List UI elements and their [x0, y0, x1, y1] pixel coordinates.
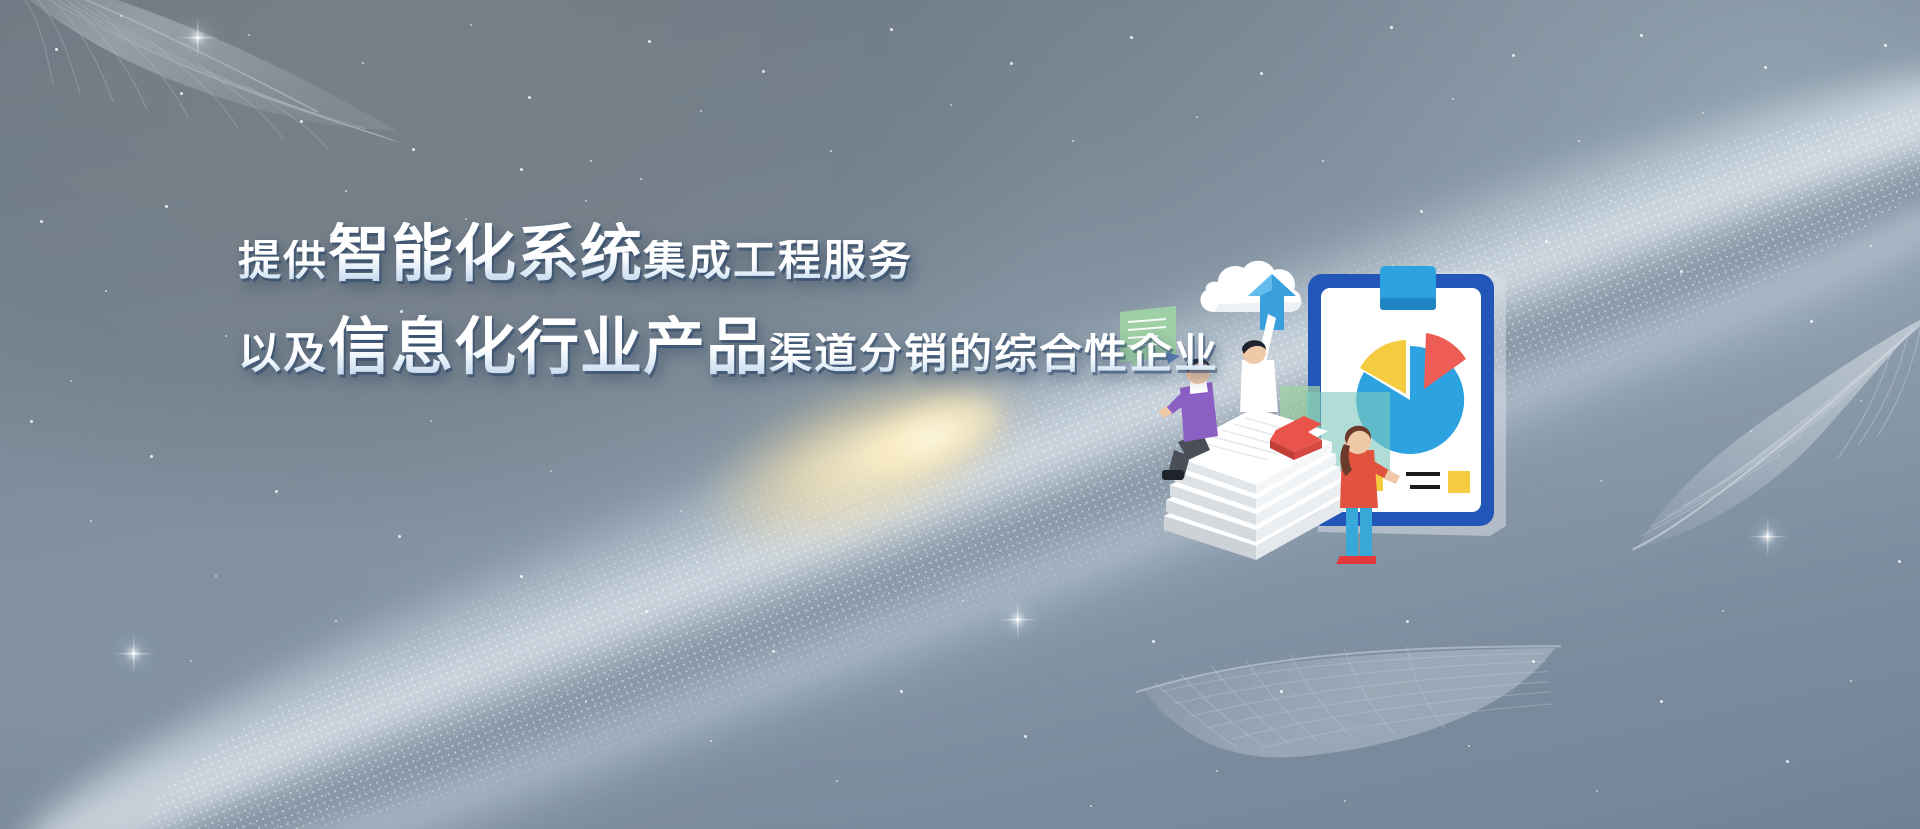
banner-stage: 提供 智能化系统 集成工程服务 以及 信息化行业产品 渠道分销的综合性企业 — [0, 0, 1920, 829]
headline-line2-part2: 信息化行业产品 — [328, 315, 769, 378]
headline-line-2: 以及 信息化行业产品 渠道分销的综合性企业 — [238, 315, 1298, 378]
sky-background — [0, 0, 1920, 829]
headline-line1-part2: 智能化系统 — [328, 222, 643, 285]
headline-line-1: 提供 智能化系统 集成工程服务 — [238, 222, 1298, 285]
headline-line2-part1: 以及 — [238, 333, 328, 377]
headline-line2-part3: 渠道分销的综合性企业 — [769, 333, 1219, 377]
headline-line1-part3: 集成工程服务 — [643, 240, 913, 284]
headline-block: 提供 智能化系统 集成工程服务 以及 信息化行业产品 渠道分销的综合性企业 — [238, 222, 1298, 378]
headline-line1-part1: 提供 — [238, 240, 328, 284]
